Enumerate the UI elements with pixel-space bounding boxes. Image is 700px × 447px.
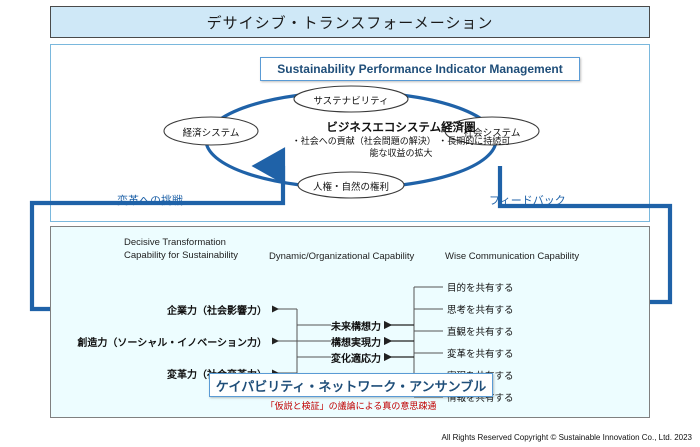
- ecosystem-label-economic-system: 経済システム: [164, 125, 258, 139]
- cne-title-label: ケイパビリティ・ネットワーク・アンサンブル: [216, 376, 487, 395]
- decisive-item-2: 創造力（ソーシャル・イノベーション力）: [57, 334, 267, 349]
- diagram-root: デサイシブ・トランスフォーメーション Sustainability Perfor…: [0, 0, 700, 447]
- wise-item-3: 直観を共有する: [447, 324, 514, 338]
- lower-panel: Decisive Transformation Capability for S…: [50, 226, 650, 418]
- loop-label-feedback: フィードバック: [489, 192, 566, 208]
- dynamic-item-1: 未来構想力: [309, 318, 381, 333]
- decisive-item-1: 企業力（社会影響力）: [67, 302, 267, 317]
- column-header-wise: Wise Communication Capability: [445, 251, 635, 264]
- ecosystem-label-human-rights: 人権・自然の権利: [298, 179, 404, 193]
- page-title: デサイシブ・トランスフォーメーション: [207, 12, 494, 33]
- cne-title-box: ケイパビリティ・ネットワーク・アンサンブル: [209, 373, 493, 397]
- wise-item-2: 思考を共有する: [447, 302, 514, 316]
- loop-label-challenge: 変革への挑戦: [117, 192, 183, 208]
- copyright-footer: All Rights Reserved Copyright © Sustaina…: [442, 433, 692, 442]
- ecosystem-label-sustainability: サステナビリティ: [294, 93, 408, 107]
- red-note: 「仮説と検証」の議論による真の意思疎通: [51, 399, 651, 412]
- ecosystem-label-social-system: 社会システム: [445, 125, 539, 139]
- column-header-dynamic: Dynamic/Organizational Capability: [269, 251, 449, 264]
- dynamic-item-3: 変化適応力: [309, 350, 381, 365]
- column-header-decisive: Decisive Transformation Capability for S…: [124, 237, 274, 263]
- dynamic-item-2: 構想実現力: [309, 334, 381, 349]
- wise-item-1: 目的を共有する: [447, 280, 514, 294]
- wise-item-4: 変革を共有する: [447, 346, 514, 360]
- page-title-bar: デサイシブ・トランスフォーメーション: [50, 6, 650, 38]
